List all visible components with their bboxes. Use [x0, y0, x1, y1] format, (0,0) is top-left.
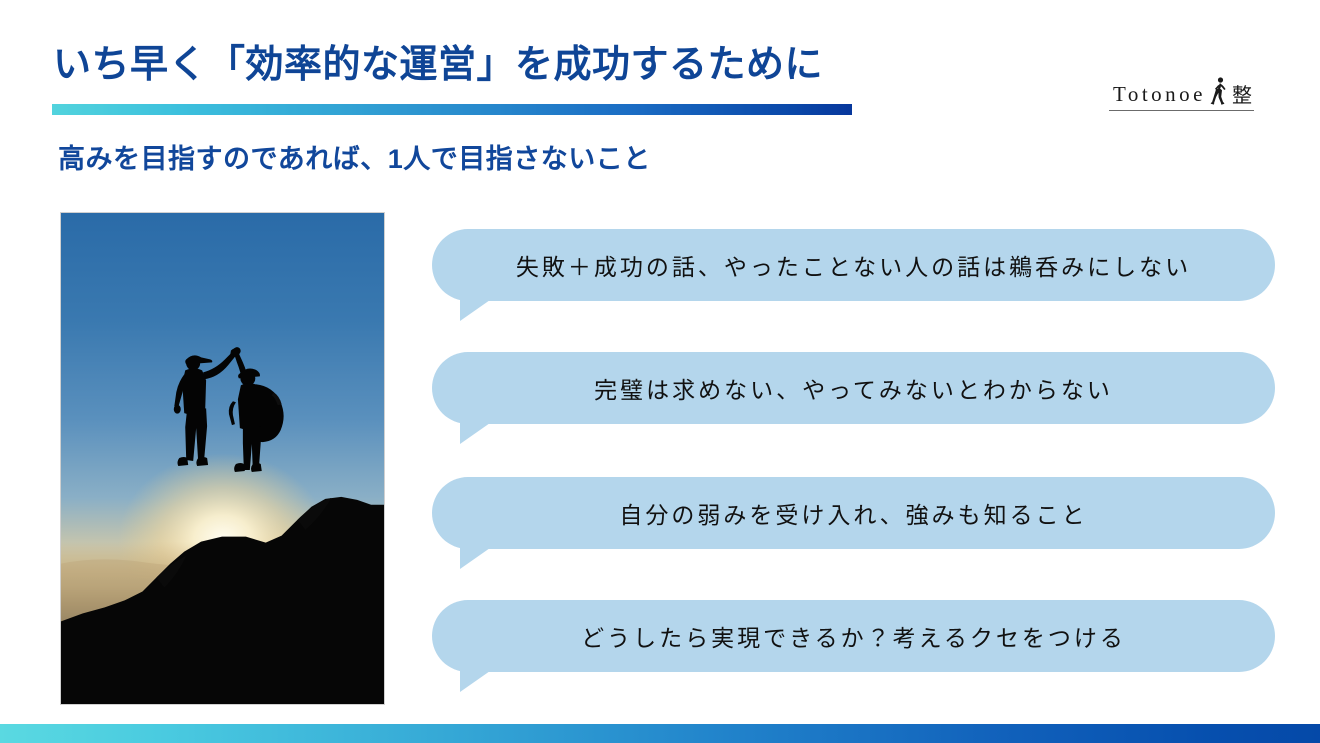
logo-kanji: 整	[1232, 85, 1252, 108]
logo-underline	[1109, 110, 1254, 111]
speech-bubble-3: 自分の弱みを受け入れ、強みも知ること	[432, 477, 1275, 549]
speech-bubble-2-text: 完璧は求めない、やってみないとわからない	[594, 371, 1113, 405]
speech-bubble-4: どうしたら実現できるか？考えるクセをつける	[432, 600, 1275, 672]
title-underline-bar	[52, 104, 852, 115]
footer-gradient-bar	[0, 724, 1320, 743]
slide-canvas: いち早く「効率的な運営」を成功するために 高みを目指すのであれば、1人で目指さな…	[0, 0, 1320, 743]
speech-bubble-2: 完璧は求めない、やってみないとわからない	[432, 352, 1275, 424]
speech-bubble-4-tail	[460, 671, 490, 692]
speech-bubble-1: 失敗＋成功の話、やったことない人の話は鵜呑みにしない	[432, 229, 1275, 301]
hikers-sunset-photo	[60, 212, 385, 705]
brand-logo: Totonoe 整	[1113, 72, 1252, 108]
walking-person-icon	[1208, 76, 1230, 108]
speech-bubble-1-text: 失敗＋成功の話、やったことない人の話は鵜呑みにしない	[516, 248, 1191, 282]
speech-bubble-3-text: 自分の弱みを受け入れ、強みも知ること	[619, 496, 1087, 530]
speech-bubble-2-tail	[460, 423, 490, 444]
speech-bubble-4-text: どうしたら実現できるか？考えるクセをつける	[581, 619, 1126, 653]
speech-bubble-3-tail	[460, 548, 490, 569]
logo-wordmark: Totonoe	[1113, 84, 1206, 108]
speech-bubble-1-tail	[460, 300, 490, 321]
page-subtitle: 高みを目指すのであれば、1人で目指さないこと	[58, 137, 651, 176]
page-title: いち早く「効率的な運営」を成功するために	[53, 44, 823, 88]
